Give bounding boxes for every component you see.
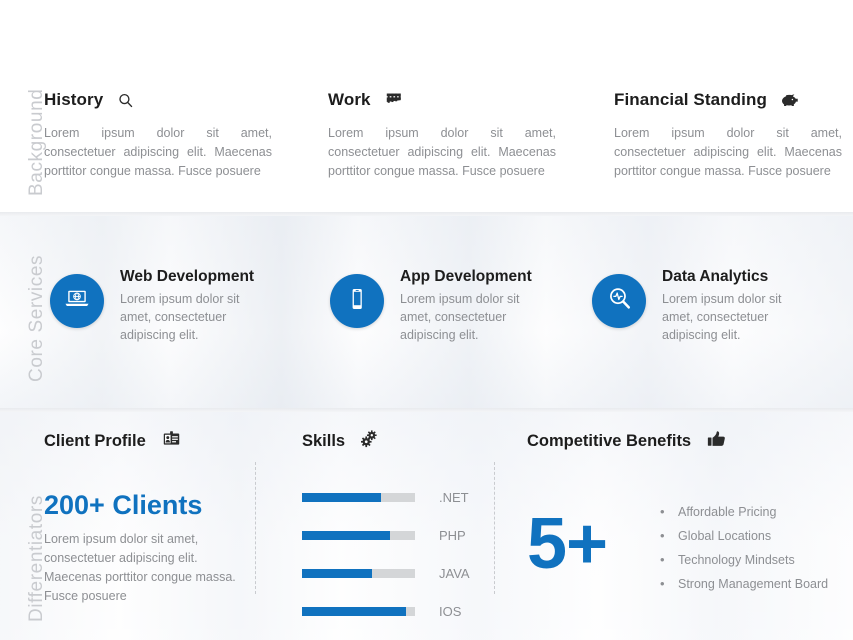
background-column-financial-standing: Financial Standing Lorem ipsum dolor sit… bbox=[614, 90, 853, 181]
background-column-work: Work Lorem ipsum dolor sit amet, consect… bbox=[328, 90, 578, 181]
slide-executive-summary: Executive Summary Background Core Servic… bbox=[0, 0, 853, 640]
skill-bar-track bbox=[302, 569, 415, 578]
column-title: History bbox=[44, 90, 103, 110]
benefit-item: Strong Management Board bbox=[660, 572, 850, 596]
diff-title: Competitive Benefits bbox=[527, 432, 691, 451]
skill-label: JAVA bbox=[439, 566, 470, 581]
skill-bar-fill bbox=[302, 531, 390, 540]
skill-bar-track bbox=[302, 493, 415, 502]
skills-list: .NET PHP JAVA IOS bbox=[302, 478, 470, 630]
skill-label: .NET bbox=[439, 490, 469, 505]
piggy-bank-icon bbox=[781, 93, 800, 108]
diff-header-competitive-benefits: Competitive Benefits bbox=[527, 430, 726, 453]
skill-row: IOS bbox=[302, 592, 470, 630]
service-title: Data Analytics bbox=[662, 268, 812, 286]
service-title: App Development bbox=[400, 268, 550, 286]
skill-bar-fill bbox=[302, 493, 381, 502]
column-header: Work bbox=[328, 90, 578, 110]
background-column-history: History Lorem ipsum dolor sit amet, cons… bbox=[44, 90, 294, 181]
service-text: Web Development Lorem ipsum dolor sit am… bbox=[120, 268, 270, 344]
skill-row: JAVA bbox=[302, 554, 470, 592]
service-icon-badge bbox=[330, 274, 384, 328]
benefit-item: Affordable Pricing bbox=[660, 500, 850, 524]
service-data-analytics: Data Analytics Lorem ipsum dolor sit ame… bbox=[592, 268, 812, 344]
skill-bar-track bbox=[302, 531, 415, 540]
thumbs-up-icon bbox=[707, 430, 726, 453]
column-header: Financial Standing bbox=[614, 90, 853, 110]
column-body-text: Lorem ipsum dolor sit amet, consectetuer… bbox=[44, 124, 272, 181]
skill-label: IOS bbox=[439, 604, 461, 619]
vertical-dashed-divider-1 bbox=[255, 462, 256, 594]
magnifier-pulse-icon bbox=[606, 285, 633, 317]
service-icon-badge bbox=[50, 274, 104, 328]
laptop-globe-icon bbox=[63, 287, 91, 316]
diff-header-client-profile: Client Profile bbox=[44, 430, 181, 452]
service-web-development: Web Development Lorem ipsum dolor sit am… bbox=[50, 268, 270, 344]
skill-row: .NET bbox=[302, 478, 470, 516]
benefits-list: Affordable Pricing Global Locations Tech… bbox=[660, 500, 850, 596]
gears-icon bbox=[361, 430, 379, 453]
id-badge-icon bbox=[162, 430, 181, 452]
skill-bar-fill bbox=[302, 569, 372, 578]
service-text: Data Analytics Lorem ipsum dolor sit ame… bbox=[662, 268, 812, 344]
client-count-highlight: 200+ Clients bbox=[44, 490, 202, 521]
column-title: Financial Standing bbox=[614, 90, 767, 110]
column-body-text: Lorem ipsum dolor sit amet, consectetuer… bbox=[328, 124, 556, 181]
client-profile-description: Lorem ipsum dolor sit amet, consectetuer… bbox=[44, 530, 240, 606]
column-title: Work bbox=[328, 90, 371, 110]
skill-label: PHP bbox=[439, 528, 466, 543]
skill-row: PHP bbox=[302, 516, 470, 554]
skill-bar-track bbox=[302, 607, 415, 616]
checkered-flag-icon bbox=[385, 92, 404, 109]
service-description: Lorem ipsum dolor sit amet, consectetuer… bbox=[120, 290, 270, 344]
service-icon-badge bbox=[592, 274, 646, 328]
service-app-development: App Development Lorem ipsum dolor sit am… bbox=[330, 268, 550, 344]
column-body-text: Lorem ipsum dolor sit amet, consectetuer… bbox=[614, 124, 842, 181]
vertical-dashed-divider-2 bbox=[494, 462, 495, 594]
service-description: Lorem ipsum dolor sit amet, consectetuer… bbox=[400, 290, 550, 344]
diff-title: Skills bbox=[302, 432, 345, 451]
service-title: Web Development bbox=[120, 268, 270, 286]
benefit-count-highlight: 5+ bbox=[527, 508, 607, 580]
benefit-item: Technology Mindsets bbox=[660, 548, 850, 572]
diff-title: Client Profile bbox=[44, 432, 146, 451]
column-header: History bbox=[44, 90, 294, 110]
skill-bar-fill bbox=[302, 607, 406, 616]
search-icon bbox=[117, 92, 134, 109]
diff-header-skills: Skills bbox=[302, 430, 379, 453]
smartphone-icon bbox=[344, 286, 370, 317]
service-description: Lorem ipsum dolor sit amet, consectetuer… bbox=[662, 290, 812, 344]
benefit-item: Global Locations bbox=[660, 524, 850, 548]
service-text: App Development Lorem ipsum dolor sit am… bbox=[400, 268, 550, 344]
rail-label-core-services: Core Services bbox=[26, 342, 48, 382]
